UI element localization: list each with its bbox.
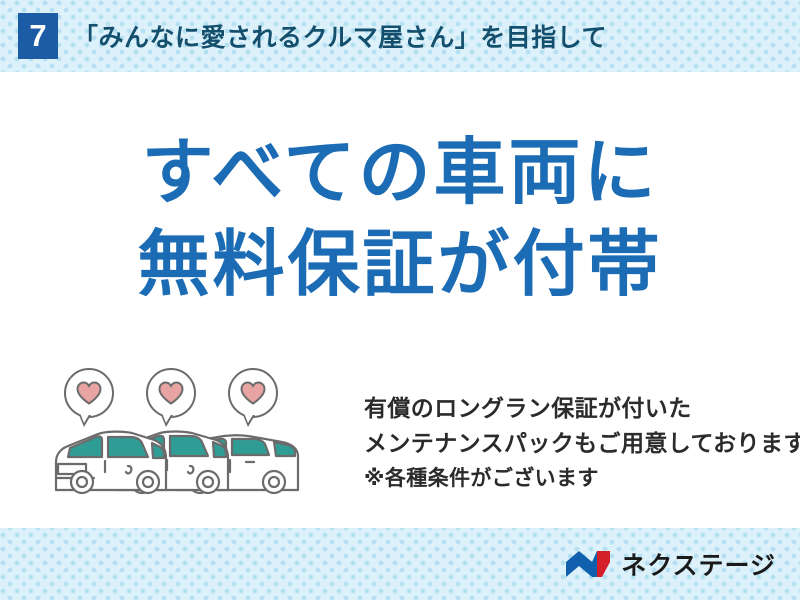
description-line-1: 有償のロングラン保証が付いた — [364, 392, 800, 427]
lower-content: 有償のロングラン保証が付いた メンテナンスパックもご用意しております。 ※各種条… — [0, 368, 800, 518]
description-note: ※各種条件がございます — [364, 462, 800, 495]
banner-header: 7 「みんなに愛されるクルマ屋さん」を目指して — [0, 0, 800, 72]
three-cars-icon — [48, 420, 316, 496]
brand-name: ネクステージ — [621, 546, 776, 582]
heart-icon — [76, 381, 102, 405]
description-text: 有償のロングラン保証が付いた メンテナンスパックもご用意しております。 ※各種条… — [364, 368, 800, 495]
heart-speech-bubble — [146, 368, 196, 418]
description-line-2: メンテナンスパックもご用意しております。 — [364, 427, 800, 462]
nextage-n-logo-icon — [564, 549, 612, 579]
heart-icon — [158, 381, 184, 405]
step-number-badge: 7 — [18, 13, 58, 59]
headline-line-1: すべての車両に — [0, 126, 800, 218]
headline: すべての車両に 無料保証が付帯 — [0, 126, 800, 310]
headline-line-2: 無料保証が付帯 — [0, 218, 800, 310]
heart-icon — [240, 381, 266, 405]
brand-logo: ネクステージ — [564, 544, 776, 584]
heart-speech-bubble — [228, 368, 278, 418]
heart-bubble-group — [64, 368, 304, 424]
content-panel: すべての車両に 無料保証が付帯 — [0, 72, 800, 528]
heart-speech-bubble — [64, 368, 114, 418]
promo-banner: 7 「みんなに愛されるクルマ屋さん」を目指して すべての車両に 無料保証が付帯 — [0, 0, 800, 600]
cars-illustration — [48, 368, 316, 496]
header-title: 「みんなに愛されるクルマ屋さん」を目指して — [73, 18, 607, 54]
